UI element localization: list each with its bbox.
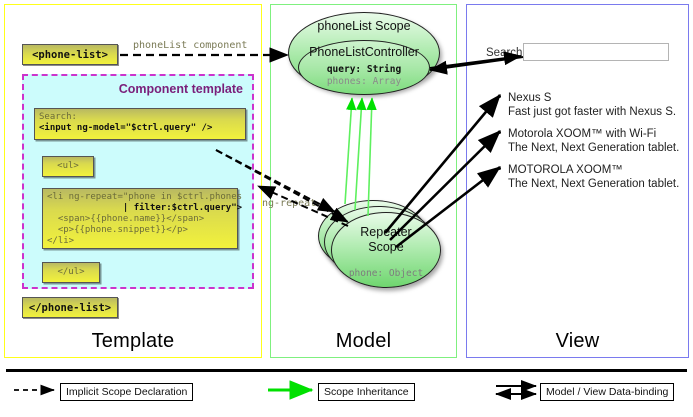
list-bullet-icon (498, 95, 501, 98)
list-bullet-icon (498, 131, 501, 134)
code-li-line3: <span>{{phone.name}}</span> (58, 214, 204, 224)
phone-list-item: Nexus S Fast just got faster with Nexus … (508, 91, 690, 119)
panel-view-label: View (467, 330, 688, 353)
code-block-li: <li ng-repeat="phone in $ctrl.phones | f… (42, 188, 238, 249)
code-input-line1: Search: (39, 112, 77, 122)
component-template-title: Component template (119, 82, 243, 96)
legend-scope-inheritance: Scope Inheritance (318, 383, 415, 401)
phonelist-component-arrow-label: phoneList component (133, 40, 247, 51)
component-template-region: Component template Search: <input ng-mod… (22, 74, 254, 289)
legend-divider (6, 369, 687, 372)
query-property-label: query: String (298, 64, 430, 75)
phone-list-item: MOTOROLA XOOM™ The Next, Next Generation… (508, 163, 690, 191)
phone-name: Motorola XOOM™ with Wi-Fi (508, 127, 690, 141)
legend-model-view-data-binding: Model / View Data-binding (540, 383, 674, 401)
code-li-line4: <p>{{phone.snippet}}</p> (58, 225, 188, 235)
phone-name: MOTOROLA XOOM™ (508, 163, 690, 177)
code-input-line2: <input ng-model="$ctrl.query" /> (39, 123, 212, 133)
repeater-scope-label: RepeaterScope (331, 225, 441, 255)
phone-list-open-tag: <phone-list> (22, 44, 118, 65)
diagram-canvas: Template Model View <phone-list> </phone… (0, 0, 693, 417)
legend-implicit-scope-declaration: Implicit Scope Declaration (60, 383, 193, 401)
phone-snippet: The Next, Next Generation tablet. (508, 141, 690, 155)
phone-object-property-label: phone: Object (331, 268, 441, 279)
view-search-input[interactable] (523, 43, 669, 61)
code-li-line1: <li ng-repeat="phone in $ctrl.phones (47, 192, 242, 202)
panel-template-label: Template (5, 330, 261, 353)
code-li-line5: </li> (47, 236, 74, 246)
panel-model-label: Model (271, 330, 456, 353)
repeater-label-line2: Scope (368, 240, 403, 254)
ng-repeat-arrow-label: ng-repeat (262, 198, 316, 209)
phones-property-label: phones: Array (298, 76, 430, 87)
code-block-ul-open: <ul> (42, 156, 94, 177)
phone-name: Nexus S (508, 91, 690, 105)
code-block-ul-close: </ul> (42, 262, 100, 283)
phonelist-controller-label: PhoneListController (298, 45, 430, 59)
code-li-line2: | filter:$ctrl.query"> (123, 203, 242, 213)
code-block-input: Search: <input ng-model="$ctrl.query" /> (34, 108, 246, 140)
phone-snippet: Fast just got faster with Nexus S. (508, 105, 690, 119)
view-search-label: Search: (486, 47, 526, 59)
phone-list-item: Motorola XOOM™ with Wi-Fi The Next, Next… (508, 127, 690, 155)
list-bullet-icon (498, 167, 501, 170)
repeater-label-line1: Repeater (360, 225, 411, 239)
phone-list-close-tag: </phone-list> (22, 297, 118, 318)
phonelist-scope-label: phoneList Scope (288, 19, 440, 33)
phone-snippet: The Next, Next Generation tablet. (508, 177, 690, 191)
